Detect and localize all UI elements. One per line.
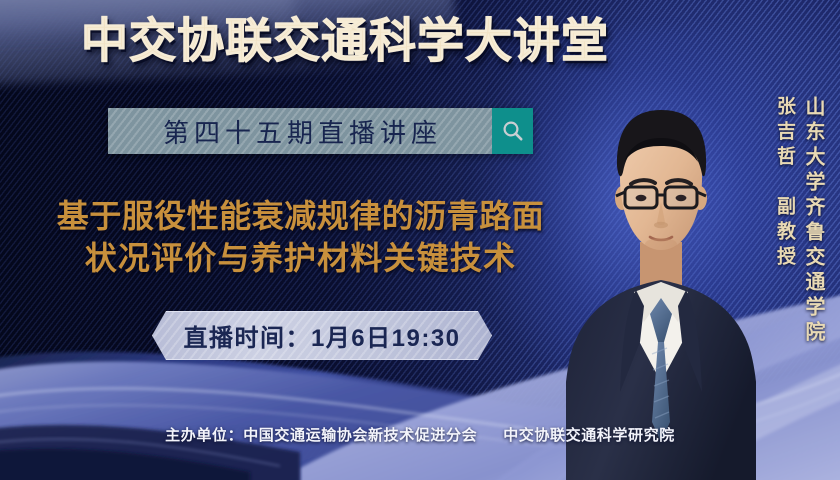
page-title: 中交协联交通科学大讲堂 (0, 16, 690, 66)
live-lecture-poster: 中交协联交通科学大讲堂 第四十五期直播讲座 基于服役性能衰减规律的沥青路面 状况… (0, 0, 840, 480)
lecture-title-line-1: 基于服役性能衰减规律的沥青路面 (18, 196, 583, 238)
speaker-name-and-title: 张吉哲 副教授 (771, 96, 798, 271)
broadcast-time-badge: 直播时间：1月6日19:30 (152, 311, 492, 360)
footer-organizer-1: 中国交通运输协会新技术促进分会 (243, 427, 477, 444)
footer-prefix: 主办单位： (165, 427, 243, 444)
speaker-portrait (566, 92, 756, 480)
lecture-title: 基于服役性能衰减规律的沥青路面 状况评价与养护材料关键技术 (18, 196, 583, 279)
search-icon-box[interactable] (492, 108, 533, 154)
episode-label: 第四十五期直播讲座 (108, 108, 492, 154)
search-icon (501, 119, 525, 143)
footer-organizer-2: 中交协联交通科学研究院 (503, 427, 675, 444)
speaker-organization: 山东大学齐鲁交通学院 (799, 96, 828, 346)
episode-banner: 第四十五期直播讲座 (108, 108, 533, 154)
lecture-title-line-2: 状况评价与养护材料关键技术 (18, 238, 583, 280)
footer-organizers: 主办单位：中国交通运输协会新技术促进分会中交协联交通科学研究院 (0, 424, 840, 445)
